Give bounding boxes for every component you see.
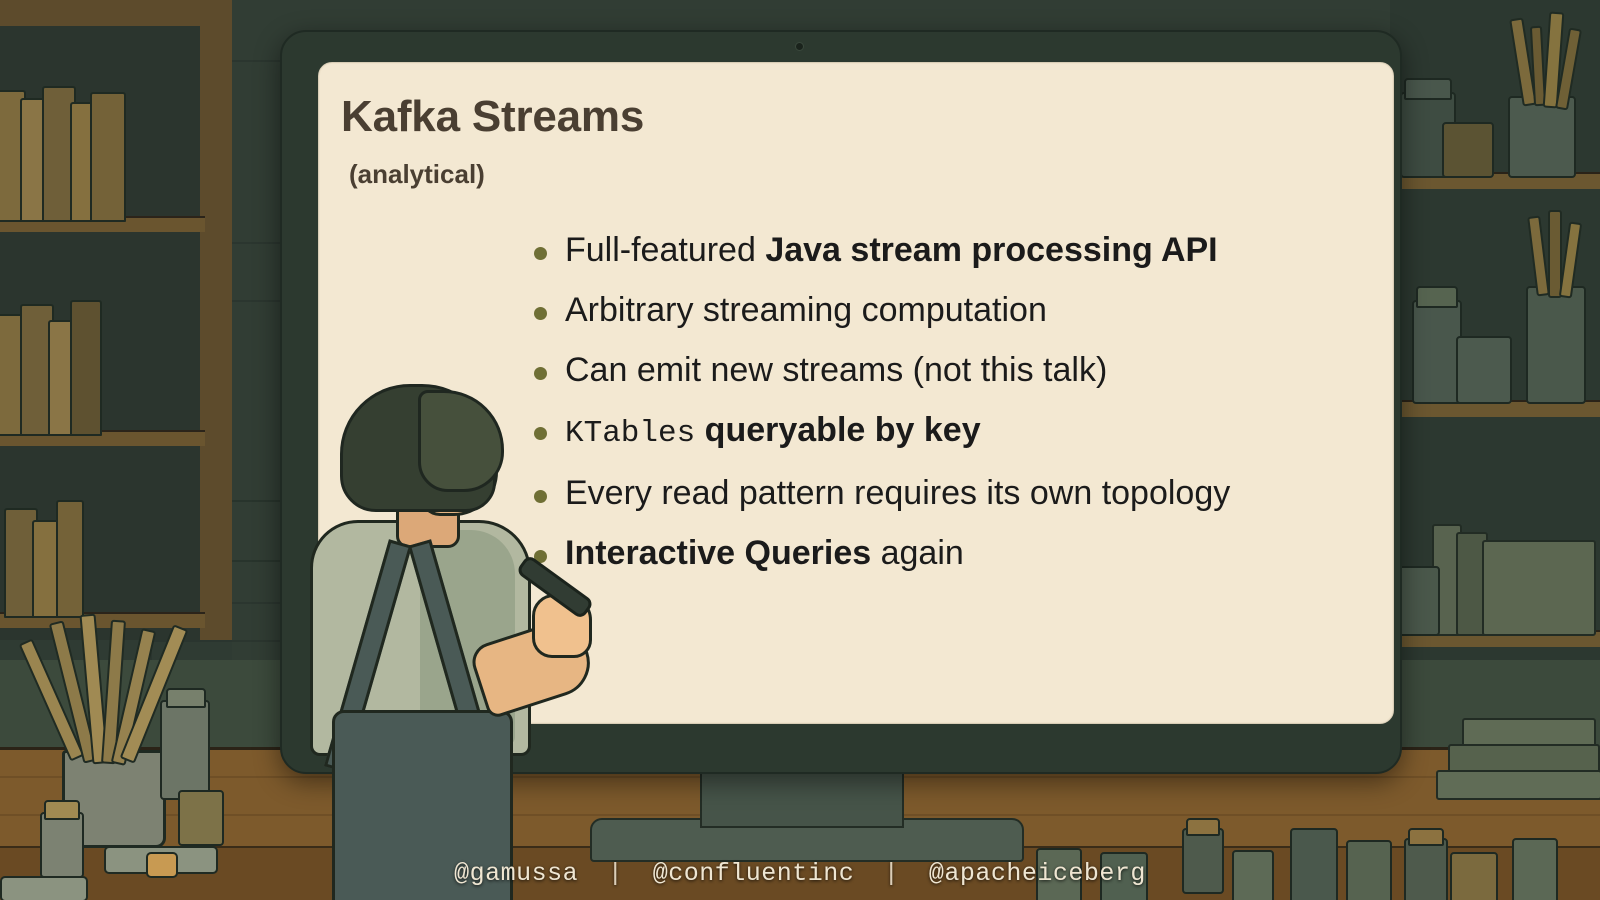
jar-lid: [1186, 818, 1220, 836]
footer-separator: |: [884, 859, 900, 888]
bookcase-frame: [200, 0, 232, 640]
jar-lid: [1408, 828, 1444, 846]
bullet-text: Arbitrary streaming computation: [565, 291, 1047, 329]
book: [70, 300, 102, 436]
artist-hair-highlight: [418, 390, 504, 492]
artist-figure: [300, 380, 600, 900]
bullet-text-pre: Full-featured: [565, 231, 765, 269]
bullet-text-bold: queryable by key: [695, 411, 980, 449]
screenshot-root: Kafka Streams (analytical) Full-featured…: [0, 0, 1600, 900]
list-item: Can emit new streams (not this talk): [534, 351, 1384, 389]
list-item: Full-featured Java stream processing API: [534, 231, 1384, 269]
bullet-dot-icon: [534, 307, 547, 320]
list-item: KTables queryable by key: [534, 411, 1384, 452]
book-stack: [1436, 770, 1600, 800]
bullet-text-pre: Arbitrary streaming computation: [565, 291, 1047, 329]
monitor-stand-neck: [700, 768, 904, 828]
slide-title: Kafka Streams: [341, 95, 644, 139]
footer-handles: @gamussa | @confluentinc | @apacheiceber…: [0, 859, 1600, 888]
bullet-text-pre: Every read pattern requires its own topo…: [565, 474, 1230, 512]
footer-handle-project: @apacheiceberg: [929, 859, 1146, 888]
bullet-list: Full-featured Java stream processing API…: [534, 231, 1384, 594]
paint-jar: [178, 790, 224, 846]
list-item: Arbitrary streaming computation: [534, 291, 1384, 329]
bullet-text-post: again: [871, 534, 964, 572]
list-item: Every read pattern requires its own topo…: [534, 474, 1384, 512]
jar-lid: [1404, 78, 1452, 100]
bullet-text-pre: Can emit new streams (not this talk): [565, 351, 1107, 389]
footer-handle-company: @confluentinc: [653, 859, 855, 888]
jar-lid: [1416, 286, 1458, 308]
bullet-text-bold: Interactive Queries: [565, 534, 871, 572]
bullet-text: Can emit new streams (not this talk): [565, 351, 1107, 389]
footer-handle-speaker: @gamussa: [454, 859, 578, 888]
bullet-text-bold: Java stream processing API: [765, 231, 1217, 269]
bullet-text: Full-featured Java stream processing API: [565, 231, 1218, 269]
jar: [1396, 566, 1440, 636]
brush: [1527, 216, 1550, 297]
book: [1482, 540, 1596, 636]
bullet-text: KTables queryable by key: [565, 411, 981, 452]
paint-bottle-lid: [44, 800, 80, 820]
paint-bottle: [160, 700, 210, 800]
bullet-dot-icon: [534, 247, 547, 260]
book: [90, 92, 126, 222]
slide-subtitle: (analytical): [349, 161, 485, 187]
bookcase-frame: [0, 0, 232, 26]
jar: [1412, 300, 1462, 404]
jar: [1456, 336, 1512, 404]
list-item: Interactive Queries again: [534, 534, 1384, 572]
paint-bottle-lid: [166, 688, 206, 708]
webcam-icon: [795, 42, 804, 51]
bullet-text: Interactive Queries again: [565, 534, 964, 572]
bullet-text: Every read pattern requires its own topo…: [565, 474, 1230, 512]
bullet-dot-icon: [534, 367, 547, 380]
footer-separator: |: [608, 859, 624, 888]
book: [56, 500, 84, 618]
jar: [1442, 122, 1494, 178]
jar: [1526, 286, 1586, 404]
bookcase: [0, 0, 232, 640]
